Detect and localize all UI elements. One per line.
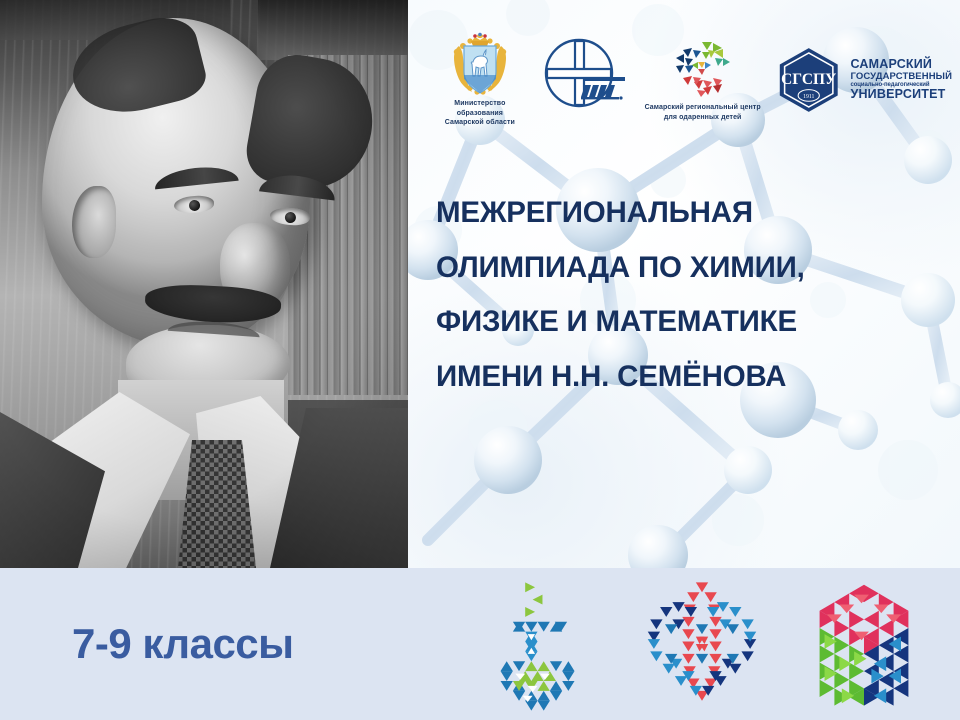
sgspu-text-block: САМАРСКИЙ ГОСУДАРСТВЕННЫЙ социально-педа… [850,58,952,102]
poster-title: МЕЖРЕГИОНАЛЬНАЯ ОЛИМПИАДА ПО ХИМИИ, ФИЗИ… [436,198,956,391]
logos-row: Министерство образования Самарской облас… [408,0,960,150]
top-section: Министерство образования Самарской облас… [0,0,960,568]
cube-icon [790,570,938,718]
hexagon-s-mosaic-icon [672,38,734,100]
title-line-3: ФИЗИКЕ И МАТЕМАТИКЕ [436,307,956,337]
poster-root: Министерство образования Самарской облас… [0,0,960,720]
logo-ministry-of-education[interactable]: Министерство образования Самарской облас… [432,32,528,127]
crown-icon [471,33,489,46]
title-line-2: ОЛИМПИАДА ПО ХИМИИ, [436,253,956,283]
logo-ministry-caption-line2: Самарской области [445,119,515,126]
grade-label: 7-9 классы [72,620,294,668]
sgspu-line-4: УНИВЕРСИТЕТ [850,88,952,102]
molecular-panel: Министерство образования Самарской облас… [408,0,960,568]
subject-icons-row [436,568,956,720]
title-line-4: ИМЕНИ Н.Н. СЕМЁНОВА [436,362,956,392]
sgspu-line-1: САМАРСКИЙ [850,58,952,72]
chemistry-flask-icon [466,570,614,718]
logo-institute-emblem[interactable] [534,35,632,125]
sgspu-badge-year: 1911 [803,94,814,100]
title-line-1: МЕЖРЕГИОНАЛЬНАЯ [436,198,956,228]
circular-cross-emblem-icon [541,35,625,113]
portrait-photo [0,0,408,568]
logo-sgspu[interactable]: СГСПУ 1911 САМАРСКИЙ ГОСУДАРСТВЕННЫЙ соц… [774,44,952,116]
atom-icon [628,570,776,718]
hexagon-badge-sgspu-icon: СГСПУ 1911 [774,44,843,116]
logo-regional-center[interactable]: Самарский региональный центр для одаренн… [637,38,768,122]
logo-regional-center-caption-line1: Самарский региональный центр [645,104,761,111]
logo-ministry-caption-line1: Министерство образования [454,100,505,116]
bottom-bar: 7-9 классы [0,568,960,720]
logo-regional-center-caption: Самарский региональный центр для одаренн… [645,103,761,122]
coat-of-arms-icon [449,32,511,96]
photo-vignette [0,0,408,568]
sgspu-badge-text: СГСПУ [781,71,837,88]
logo-regional-center-caption-line2: для одаренных детей [664,114,742,121]
sgspu-line-2: ГОСУДАРСТВЕННЫЙ [850,72,952,82]
logo-ministry-caption: Министерство образования Самарской облас… [432,99,528,127]
